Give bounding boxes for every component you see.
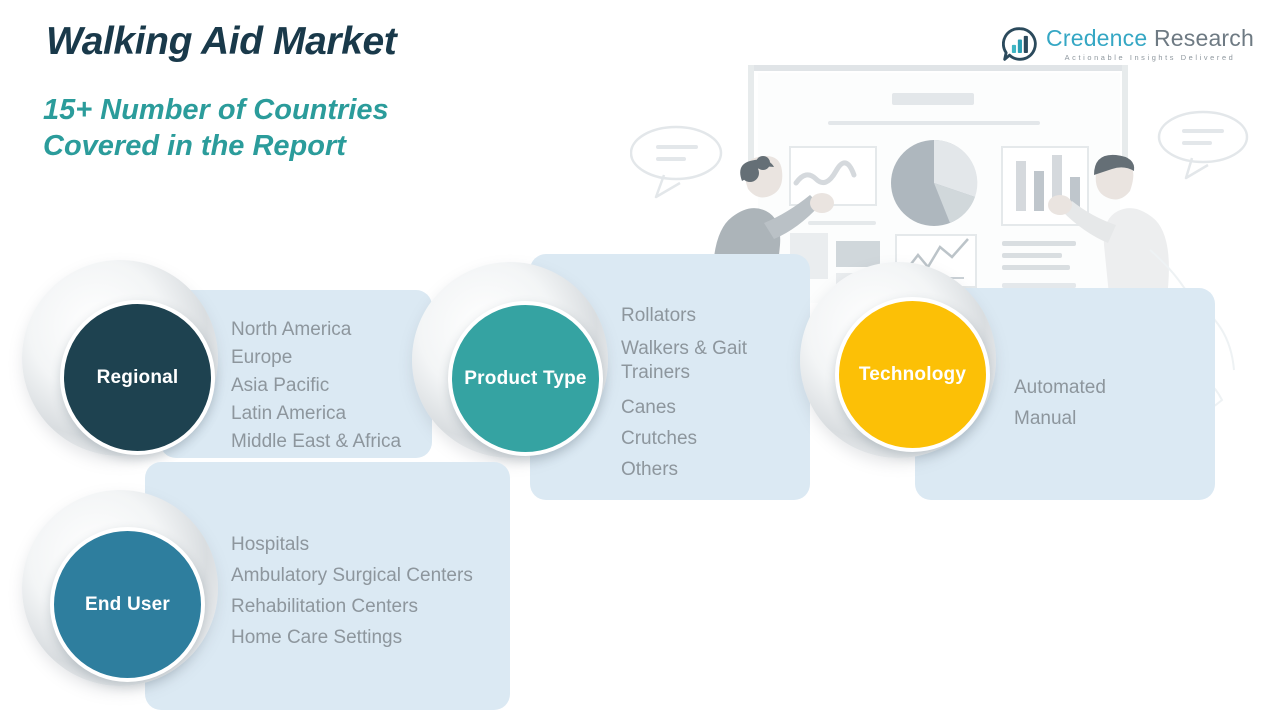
card-circle-technology[interactable]: Technology (835, 297, 990, 452)
card-label-end-user: End User (85, 594, 170, 616)
list-item: Home Care Settings (231, 622, 473, 653)
card-label-product-type: Product Type (464, 368, 586, 390)
page-subtitle: 15+ Number of Countries Covered in the R… (43, 92, 389, 164)
card-circle-product-type[interactable]: Product Type (448, 301, 603, 456)
credence-research-logo[interactable]: Credence Research Actionable Insights De… (1002, 26, 1254, 62)
list-item: Europe (231, 344, 401, 372)
list-item: Latin America (231, 400, 401, 428)
list-item: Rollators (621, 300, 747, 331)
list-item: North America (231, 316, 401, 344)
list-item: Hospitals (231, 529, 473, 560)
slide-canvas: Walking Aid Market 15+ Number of Countri… (0, 0, 1280, 720)
list-item: Canes (621, 392, 747, 423)
logo-word-credence: Credence (1046, 25, 1147, 51)
list-item: Rehabilitation Centers (231, 591, 473, 622)
card-circle-regional[interactable]: Regional (60, 300, 215, 455)
list-item: Automated (1014, 372, 1106, 403)
list-item: Crutches (621, 423, 747, 454)
list-item: Middle East & Africa (231, 428, 401, 456)
card-list-end-user: Hospitals Ambulatory Surgical Centers Re… (231, 529, 473, 653)
list-item: Others (621, 454, 747, 485)
card-circle-end-user[interactable]: End User (50, 527, 205, 682)
bar-chart-bubble-icon (1002, 26, 1038, 62)
list-item: Asia Pacific (231, 372, 401, 400)
list-item: Ambulatory Surgical Centers (231, 560, 473, 591)
logo-tagline: Actionable Insights Delivered (1046, 54, 1254, 61)
card-label-technology: Technology (859, 364, 966, 386)
page-title: Walking Aid Market (46, 20, 396, 64)
list-item: Walkers & Gait Trainers (621, 337, 747, 385)
card-label-regional: Regional (97, 367, 179, 389)
list-item: Manual (1014, 403, 1106, 434)
card-list-product-type: Rollators Walkers & Gait Trainers Canes … (621, 300, 747, 485)
logo-word-research: Research (1154, 25, 1254, 51)
card-list-technology: Automated Manual (1014, 372, 1106, 434)
card-list-regional: North America Europe Asia Pacific Latin … (231, 316, 401, 456)
